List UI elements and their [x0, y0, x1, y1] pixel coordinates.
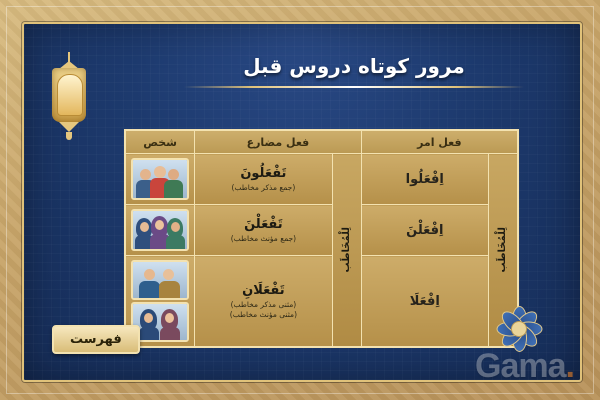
header-person: شخص	[125, 130, 195, 154]
watermark-dot: .	[566, 347, 574, 385]
cell-imperative-3: اِفْعَلَا	[361, 256, 488, 348]
header-present: فعل مضارع	[195, 130, 361, 154]
present-gloss-1: (جمع مذکر مخاطب)	[198, 183, 328, 192]
conjugation-table: فعل امر فعل مضارع شخص لِلْمُخَاطَب اِفْع…	[124, 129, 519, 348]
cell-imperative-1: اِفْعَلُوا	[361, 154, 488, 205]
photo-two-boys	[131, 260, 189, 300]
title-block: مرور کوتاه دروس قبل	[144, 54, 564, 88]
side-label-present: لِلْمُخَاطَب	[332, 154, 361, 348]
watermark-text: Gama	[475, 347, 566, 385]
present-gloss-3a: (مثنی مذکر مخاطب)	[198, 300, 328, 309]
page-title: مرور کوتاه دروس قبل	[144, 54, 564, 78]
table-row: لِلْمُخَاطَب اِفْعَلُوا لِلْمُخَاطَب تَف…	[125, 154, 518, 205]
lantern-icon	[46, 52, 92, 144]
cell-person-2	[125, 205, 195, 256]
present-verb-2: تَفْعَلْنَ	[198, 217, 328, 233]
cell-present-2: تَفْعَلْنَ (جمع مؤنث مخاطب)	[195, 205, 332, 256]
cell-present-3: تَفْعَلَانِ (مثنی مذکر مخاطب) (مثنی مؤنث…	[195, 256, 332, 348]
cell-imperative-2: اِفْعَلْنَ	[361, 205, 488, 256]
fehrest-button[interactable]: فهرست	[52, 325, 140, 354]
table-row: اِفْعَلَا تَفْعَلَانِ (مثنی مذکر مخاطب) …	[125, 256, 518, 348]
table-header-row: فعل امر فعل مضارع شخص	[125, 130, 518, 154]
title-divider	[184, 86, 524, 88]
present-verb-1: تَفْعَلُونَ	[198, 166, 328, 182]
header-imperative: فعل امر	[361, 130, 518, 154]
photo-three-boys	[131, 158, 189, 200]
present-gloss-3b: (مثنی مؤنث مخاطب)	[198, 310, 328, 319]
photo-two-girls	[131, 302, 189, 342]
present-verb-3: تَفْعَلَانِ	[198, 283, 328, 299]
watermark: Gama.	[475, 347, 574, 386]
content-panel: مرور کوتاه دروس قبل فعل امر فعل مضارع شخ…	[22, 22, 582, 382]
photo-three-girls	[131, 209, 189, 251]
cell-present-1: تَفْعَلُونَ (جمع مذکر مخاطب)	[195, 154, 332, 205]
cell-person-1	[125, 154, 195, 205]
table-row: اِفْعَلْنَ تَفْعَلْنَ (جمع مؤنث مخاطب)	[125, 205, 518, 256]
slide-canvas: مرور کوتاه دروس قبل فعل امر فعل مضارع شخ…	[0, 0, 600, 400]
present-gloss-2: (جمع مؤنث مخاطب)	[198, 234, 328, 243]
